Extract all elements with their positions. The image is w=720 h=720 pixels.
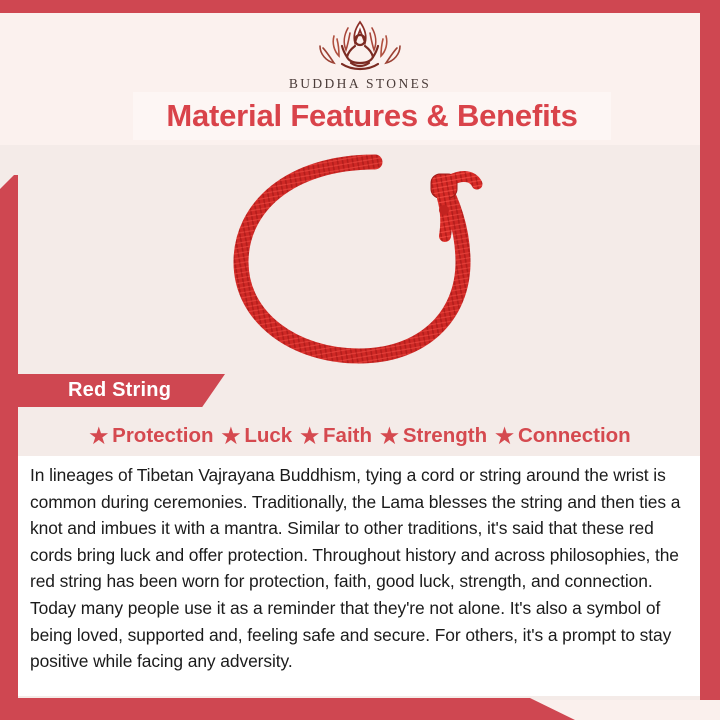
frame-bottom-bar [0,698,575,720]
star-icon: ★ [380,426,399,447]
product-image [18,148,700,370]
description-text: In lineages of Tibetan Vajrayana Buddhis… [30,462,684,675]
infographic-poster: BUDDHA STONES Material Features & Benefi… [0,0,720,720]
benefit-label: Strength [403,424,487,448]
description-panel: In lineages of Tibetan Vajrayana Buddhis… [18,456,700,696]
frame-left-bar [0,175,18,700]
brand-name: BUDDHA STONES [0,76,720,92]
brand-logo: BUDDHA STONES [0,16,720,92]
star-icon: ★ [89,426,108,447]
star-icon: ★ [495,426,514,447]
benefit-item: ★ Strength [380,424,487,448]
frame-top-bar [0,0,720,13]
product-label-text: Red String [68,379,171,402]
red-string-bracelet-illustration [225,150,493,368]
benefit-item: ★ Connection [495,424,631,448]
benefit-item: ★ Protection [89,424,213,448]
star-icon: ★ [222,426,241,447]
benefit-label: Faith [323,424,372,448]
star-icon: ★ [300,426,319,447]
benefit-item: ★ Faith [300,424,372,448]
benefit-item: ★ Luck [222,424,293,448]
product-label-banner: Red String [18,374,225,407]
benefit-label: Connection [518,424,631,448]
benefit-label: Luck [244,424,292,448]
benefits-row: ★ Protection ★ Luck ★ Faith ★ Strength ★… [18,418,702,454]
title-banner: Material Features & Benefits [133,92,611,140]
lotus-meditation-icon [304,16,416,74]
frame-right-bar [700,0,720,700]
page-title: Material Features & Benefits [166,98,577,134]
benefit-label: Protection [112,424,213,448]
